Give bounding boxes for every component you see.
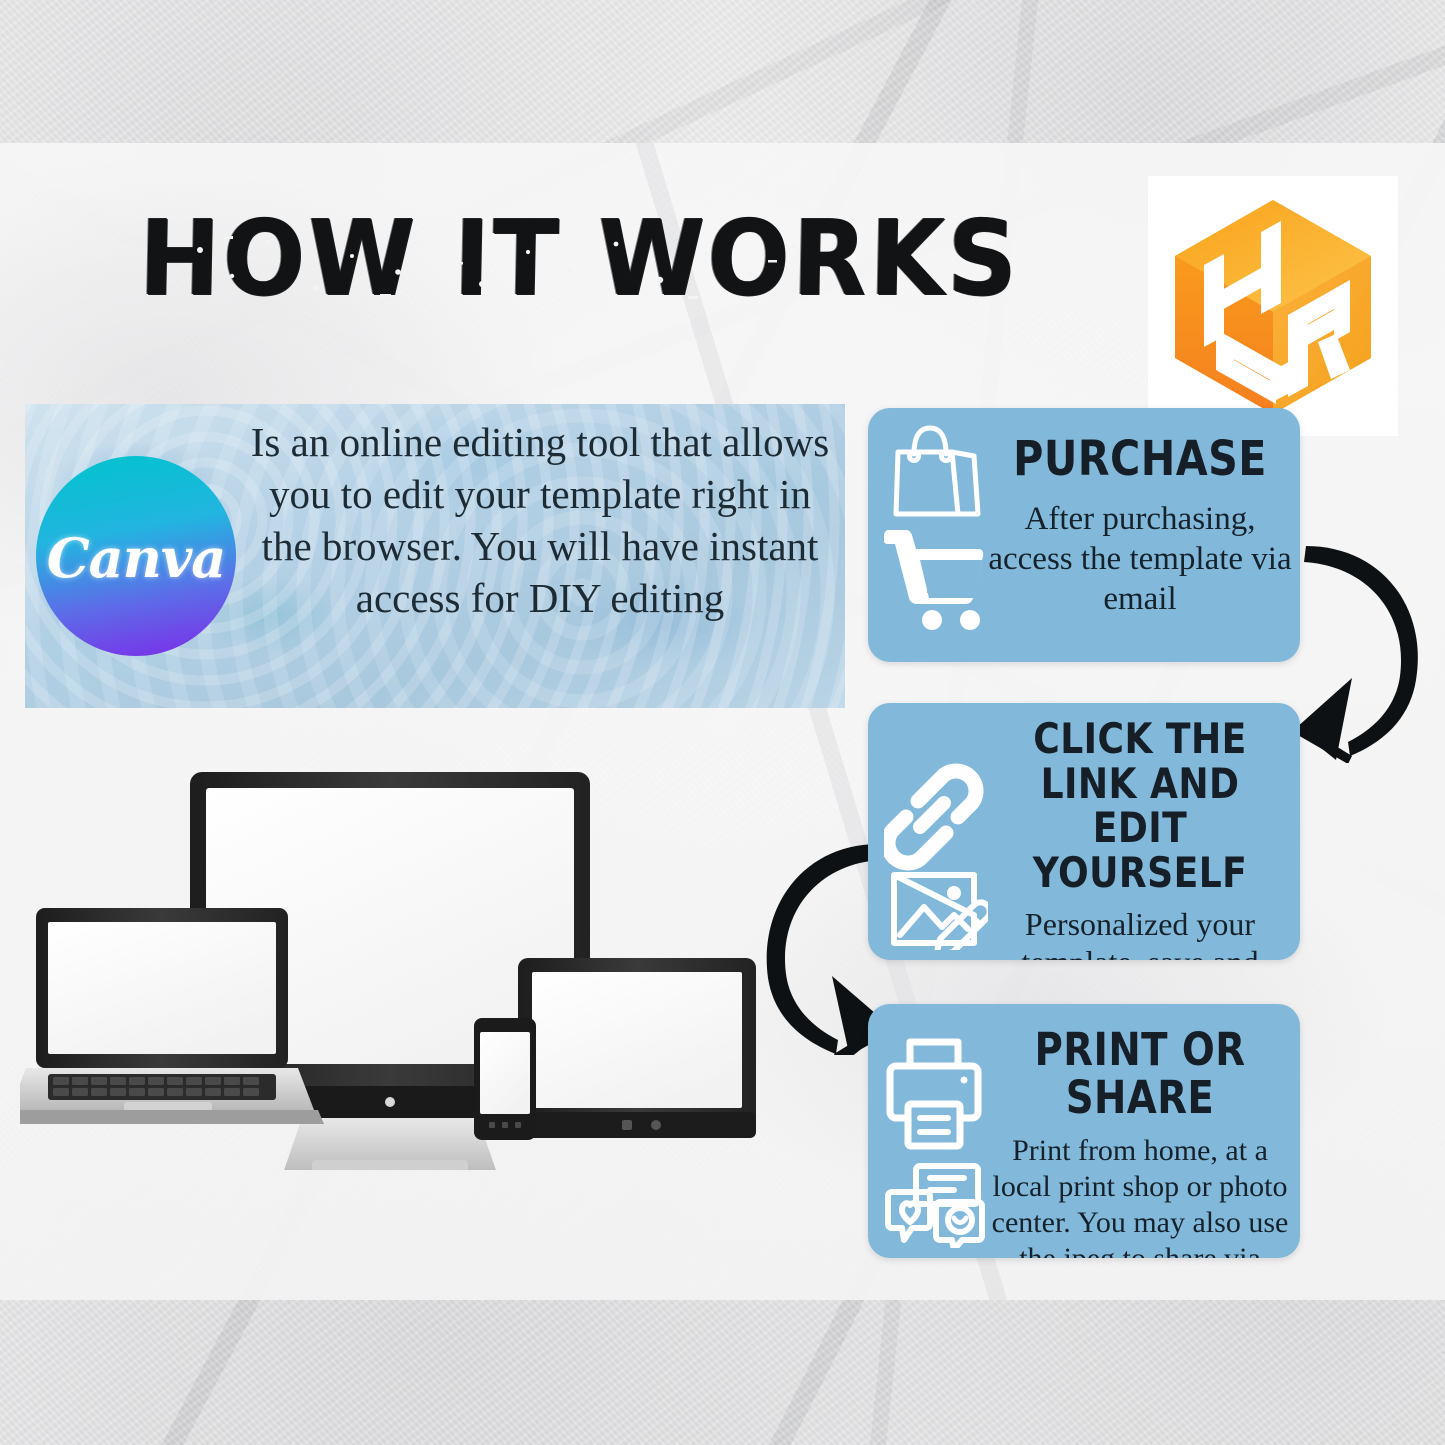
step2-heading: CLICK THE LINK AND EDIT YOURSELF [1009,703,1270,895]
step3-description: Print from home, at a local print shop o… [988,1121,1292,1258]
canva-logo: Canva [36,456,236,656]
step1-heading: PURCHASE [1009,408,1270,485]
step2-description: Personalized your template, save and dow… [988,895,1292,960]
canva-description: Is an online editing tool that allows yo… [247,416,833,624]
canva-info-panel: Canva Is an online editing tool that all… [25,404,845,708]
step-box-purchase[interactable]: PURCHASE After purchasing, access the te… [868,408,1300,662]
image-edit-icon [894,875,988,950]
shopping-cart-icon [884,530,983,630]
step-box-print-share[interactable]: PRINT OR SHARE Print from home, at a loc… [868,1004,1300,1258]
hrg-logo [1148,176,1398,436]
step1-description: After purchasing, access the template vi… [988,485,1292,619]
page-title: HOW IT WORKS [138,206,819,310]
tablet-device [518,958,756,1138]
step2-body: CLICK THE LINK AND EDIT YOURSELF Persona… [988,703,1292,960]
infographic-canvas: HOW IT WORKS [0,0,1445,1445]
step1-body: PURCHASE After purchasing, access the te… [988,408,1292,662]
laptop-device [20,908,324,1124]
shopping-bag-icon [896,428,978,514]
step3-icons [884,1016,988,1253]
device-mockup-image [20,760,780,1170]
hrg-cube-icon [1158,184,1388,429]
printer-icon [890,1042,978,1146]
step1-icons [884,420,988,653]
arrow-step1-to-step2 [1288,528,1445,763]
step3-body: PRINT OR SHARE Print from home, at a loc… [988,1004,1292,1258]
step-box-click-link[interactable]: CLICK THE LINK AND EDIT YOURSELF Persona… [868,703,1300,960]
step2-icons [884,715,988,955]
step3-heading: PRINT OR SHARE [1009,1004,1270,1121]
link-icon [888,771,976,863]
chat-share-icon [888,1166,982,1248]
canva-logo-text: Canva [47,526,226,590]
smartphone-device [474,1018,536,1140]
